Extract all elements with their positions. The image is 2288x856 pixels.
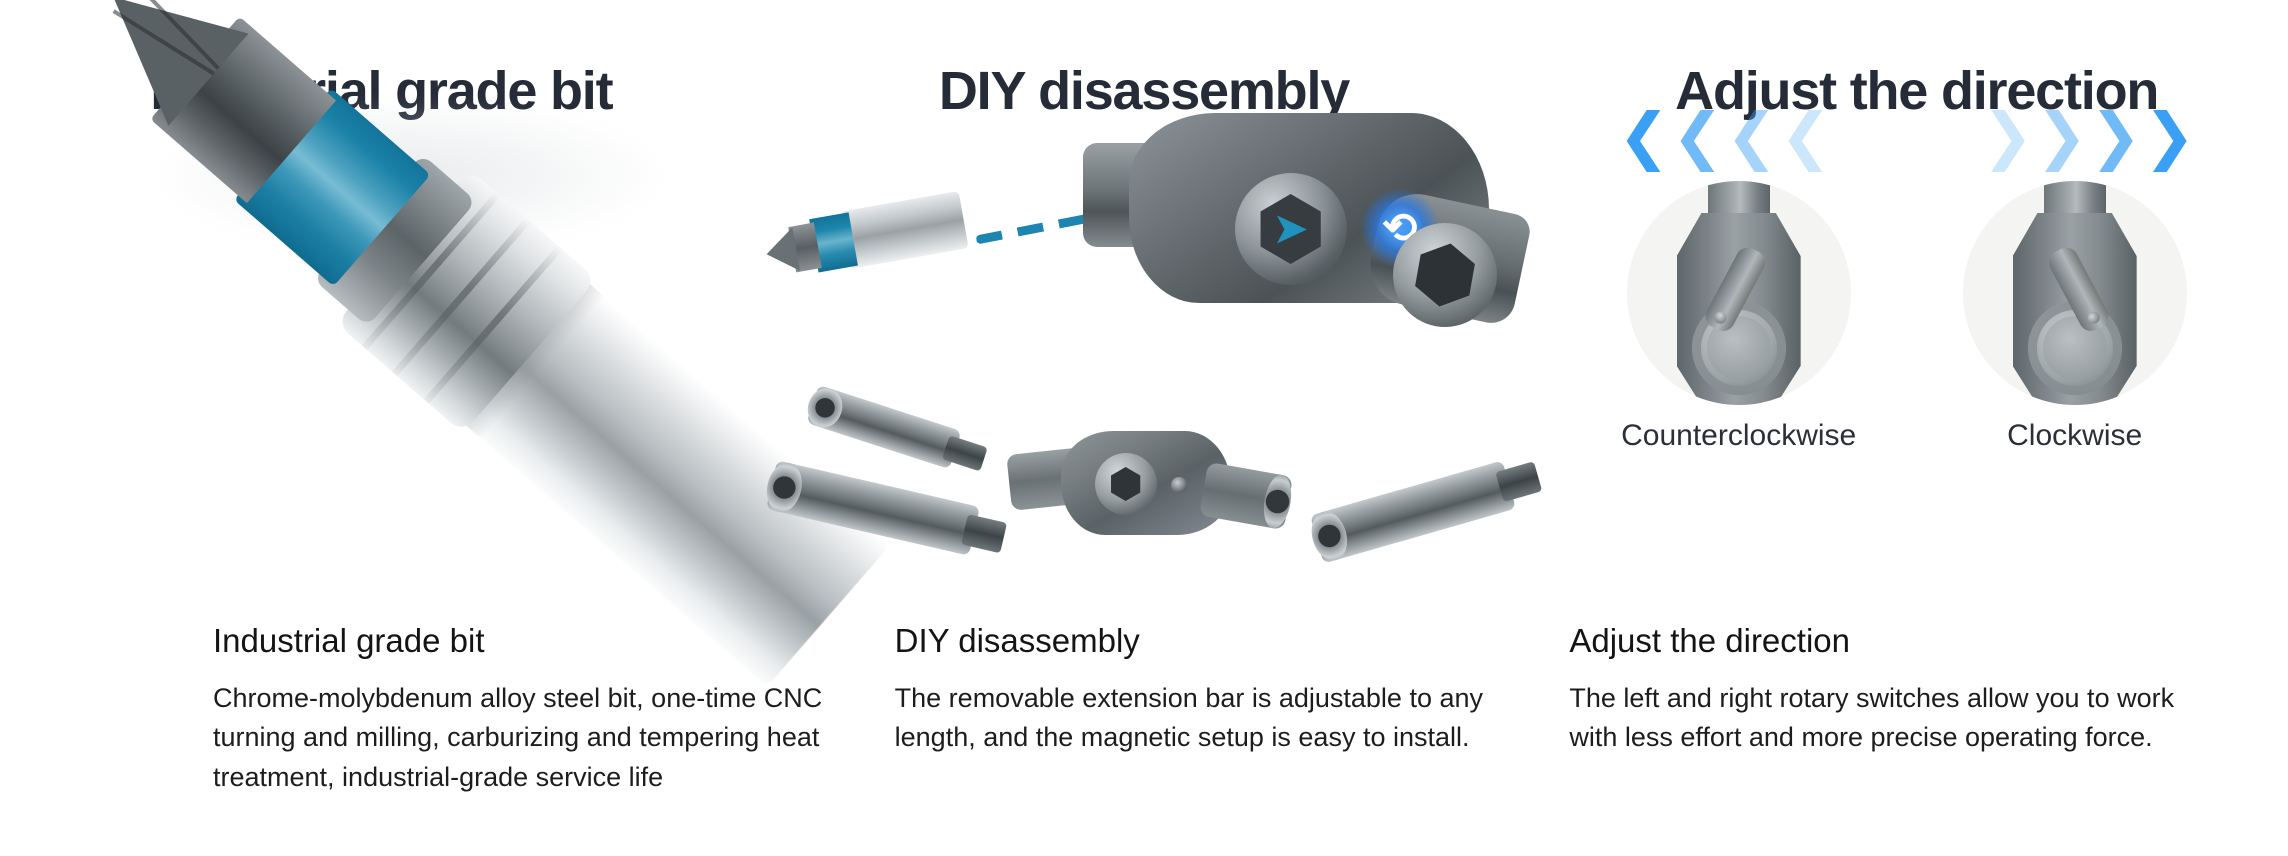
hex-socket-front: ➤: [1235, 173, 1347, 285]
chevron-left-icon: ❮: [1618, 105, 1670, 167]
hex-hole: [1408, 238, 1482, 312]
chevron-left-icon: ❮: [1780, 105, 1832, 167]
bit-shank: [840, 191, 968, 269]
switch-cell-counterclockwise: Counterclockwise: [1599, 181, 1879, 453]
switch-label-clockwise: Clockwise: [1935, 419, 2215, 453]
switch-label-counterclockwise: Counterclockwise: [1599, 419, 1879, 453]
center-body-detent-pin: [1171, 477, 1187, 493]
chevron-right-icon: ❯: [2144, 105, 2196, 167]
copy-title: Adjust the direction: [1569, 620, 2189, 661]
extension-bar: [1310, 460, 1516, 563]
ratchet-head-counterclockwise: [1627, 181, 1851, 405]
insert-arrow-icon: ➤: [1274, 209, 1308, 249]
feature-panel-industrial-grade-bit: Industrial grade bit: [0, 0, 763, 856]
chevron-right-icon: ❯: [2036, 105, 2088, 167]
copy-title: Industrial grade bit: [213, 620, 833, 661]
lever-pivot: [2085, 309, 2101, 325]
center-body-socket: [1260, 473, 1295, 531]
panel-copy: Adjust the direction The left and right …: [1569, 620, 2189, 758]
chevron-right-icon: ❯: [1982, 105, 2034, 167]
chevron-left-icon: ❮: [1672, 105, 1724, 167]
panel-copy: Industrial grade bit Chrome-molybdenum a…: [213, 620, 833, 797]
detached-bit: [771, 191, 968, 281]
center-handle-body: [1009, 425, 1281, 541]
extension-bar: [806, 385, 961, 469]
bit-assembly-graphic: [117, 0, 862, 696]
ratchet-handle-head: ➤ ⟲: [1083, 103, 1503, 323]
panel-copy: DIY disassembly The removable extension …: [895, 620, 1515, 758]
hex-hole: [1109, 467, 1143, 501]
copy-body: Chrome-molybdenum alloy steel bit, one-t…: [213, 679, 833, 796]
bar-socket-end: [802, 384, 847, 433]
chevron-right-icon: ❯: [2090, 105, 2142, 167]
direction-chevrons: ❮❮❮❮ ❯❯❯❯: [1525, 105, 2288, 167]
lever-pivot: [1712, 309, 1728, 325]
bar-tang-end: [942, 435, 988, 471]
switch-cell-clockwise: Clockwise: [1935, 181, 2215, 453]
chevron-left-icon: ❮: [1726, 105, 1778, 167]
hex-hole: ➤: [1256, 194, 1326, 264]
feature-board: Industrial grade bit: [0, 0, 2288, 856]
center-body-hex-socket: [1095, 453, 1157, 515]
switch-illustrations: Counterclockwise Clockwise: [1525, 181, 2288, 453]
diy-disassembly-illustration: ➤ ⟲: [763, 95, 1526, 585]
copy-title: DIY disassembly: [895, 620, 1515, 661]
ratchet-graphic: [2013, 181, 2137, 405]
copy-body: The left and right rotary switches allow…: [1569, 679, 2189, 757]
feature-panel-adjust-direction: Adjust the direction ❮❮❮❮ ❯❯❯❯: [1525, 0, 2288, 856]
ratchet-head-clockwise: [1963, 181, 2187, 405]
extension-bar: [766, 460, 980, 556]
bar-socket-end: [1306, 507, 1352, 564]
copy-body: The removable extension bar is adjustabl…: [895, 679, 1515, 757]
bar-socket-end: [762, 459, 806, 515]
chevron-group-right: ❯❯❯❯: [1982, 105, 2196, 167]
direction-switch-illustration: ❮❮❮❮ ❯❯❯❯ Counterclockw: [1525, 95, 2288, 585]
ratchet-graphic: [1677, 181, 1801, 405]
screwdriver-bit-illustration: [0, 95, 763, 585]
feature-panel-diy-disassembly: DIY disassembly ➤: [763, 0, 1526, 856]
bar-tang-end: [961, 514, 1007, 553]
chevron-group-left: ❮❮❮❮: [1618, 105, 1832, 167]
